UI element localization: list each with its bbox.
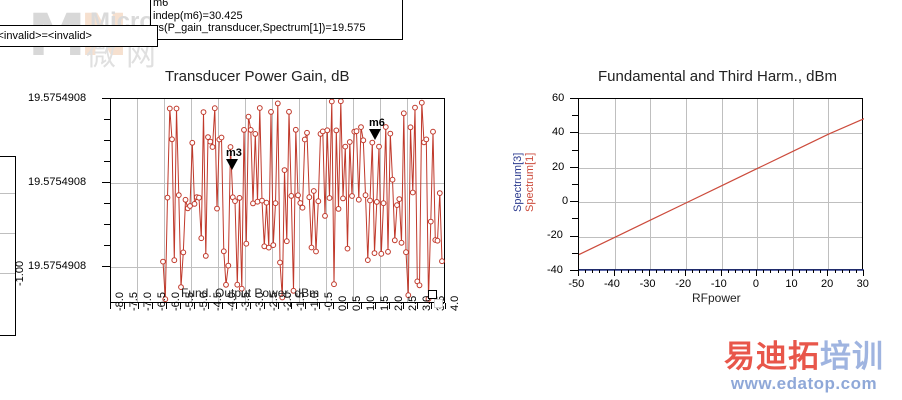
- right-plot-frame: [578, 98, 863, 270]
- left-ytick-0: 19.5754908: [28, 92, 86, 104]
- fragment-square-2: [434, 299, 443, 308]
- marker-m6-tooltip[interactable]: m6 indep(m6)=30.425 vs(P_gain_transducer…: [150, 0, 403, 40]
- edatop-watermark-url: www.edatop.com: [724, 374, 884, 394]
- left-ytick-2: 19.5754908: [28, 260, 86, 272]
- left-plot-title: Transducer Power Gain, dB: [165, 68, 350, 85]
- right-ylabel-spectrum3: Spectrum[3]: [512, 153, 524, 212]
- m3-tooltip-text: eq[m3,:]) <invalid>=<invalid>: [0, 30, 92, 42]
- fragment-square-1: [428, 290, 437, 299]
- left-ytick-1: 19.5754908: [28, 176, 86, 188]
- left-plot-xlabel: Fund. Output Power, dBm: [181, 286, 319, 300]
- right-xtick-0: -50: [568, 278, 584, 290]
- right-ytick-20: 20: [552, 161, 564, 173]
- left-clipped-frame-fragment: [0, 156, 16, 336]
- left-xtick-24: 4.0: [449, 296, 461, 311]
- right-plot-xlabel: RFpower: [692, 291, 741, 305]
- right-xtick-3: -20: [675, 278, 691, 290]
- fundamental-third-harmonic-plot: Fundamental and Third Harm., dBm 60 40 2…: [500, 60, 900, 310]
- right-xtick-2: -30: [640, 278, 656, 290]
- right-ytick-40: 40: [552, 126, 564, 138]
- right-ytick-neg20: -20: [547, 229, 563, 241]
- right-xtick-4: -10: [711, 278, 727, 290]
- marker-arrow-m6[interactable]: [369, 129, 381, 140]
- m6-tooltip-line1: m6: [153, 0, 400, 10]
- m6-tooltip-line3: vs(P_gain_transducer,Spectrum[1])=19.575: [153, 22, 400, 35]
- right-xtick-7: 20: [821, 278, 833, 290]
- m6-tooltip-line2: indep(m6)=30.425: [153, 10, 400, 23]
- right-ylabel-spectrum1: Spectrum[1]: [524, 153, 536, 212]
- marker-label-m3[interactable]: m3: [226, 147, 242, 159]
- marker-label-m6[interactable]: m6: [369, 117, 385, 129]
- screenshot-root: MN MicroNet 微网 Transducer Power Gain, dB: [0, 0, 902, 400]
- right-xtick-5: 0: [753, 278, 759, 290]
- right-xtick-1: -40: [604, 278, 620, 290]
- right-ytick-0: 0: [562, 195, 568, 207]
- left-plot-frame: m3 m6: [110, 98, 445, 303]
- right-plot-traces: [579, 99, 864, 271]
- right-xtick-8: 30: [857, 278, 869, 290]
- edatop-watermark: 易迪拓培训 www.edatop.com: [724, 331, 884, 394]
- right-xtick-6: 10: [785, 278, 797, 290]
- left-stray-tick-label: -1.00: [14, 261, 26, 286]
- transducer-power-gain-plot: Transducer Power Gain, dB m3 m6: [0, 60, 470, 310]
- right-ytick-60: 60: [552, 92, 564, 104]
- left-plot-trace: [111, 99, 446, 304]
- marker-m3-tooltip[interactable]: eq[m3,:]) <invalid>=<invalid>: [0, 25, 158, 47]
- marker-arrow-m3[interactable]: [226, 159, 238, 170]
- edatop-watermark-cn: 易迪拓培训: [724, 331, 884, 376]
- right-ytick-neg40: -40: [547, 264, 563, 276]
- right-plot-title: Fundamental and Third Harm., dBm: [598, 68, 837, 85]
